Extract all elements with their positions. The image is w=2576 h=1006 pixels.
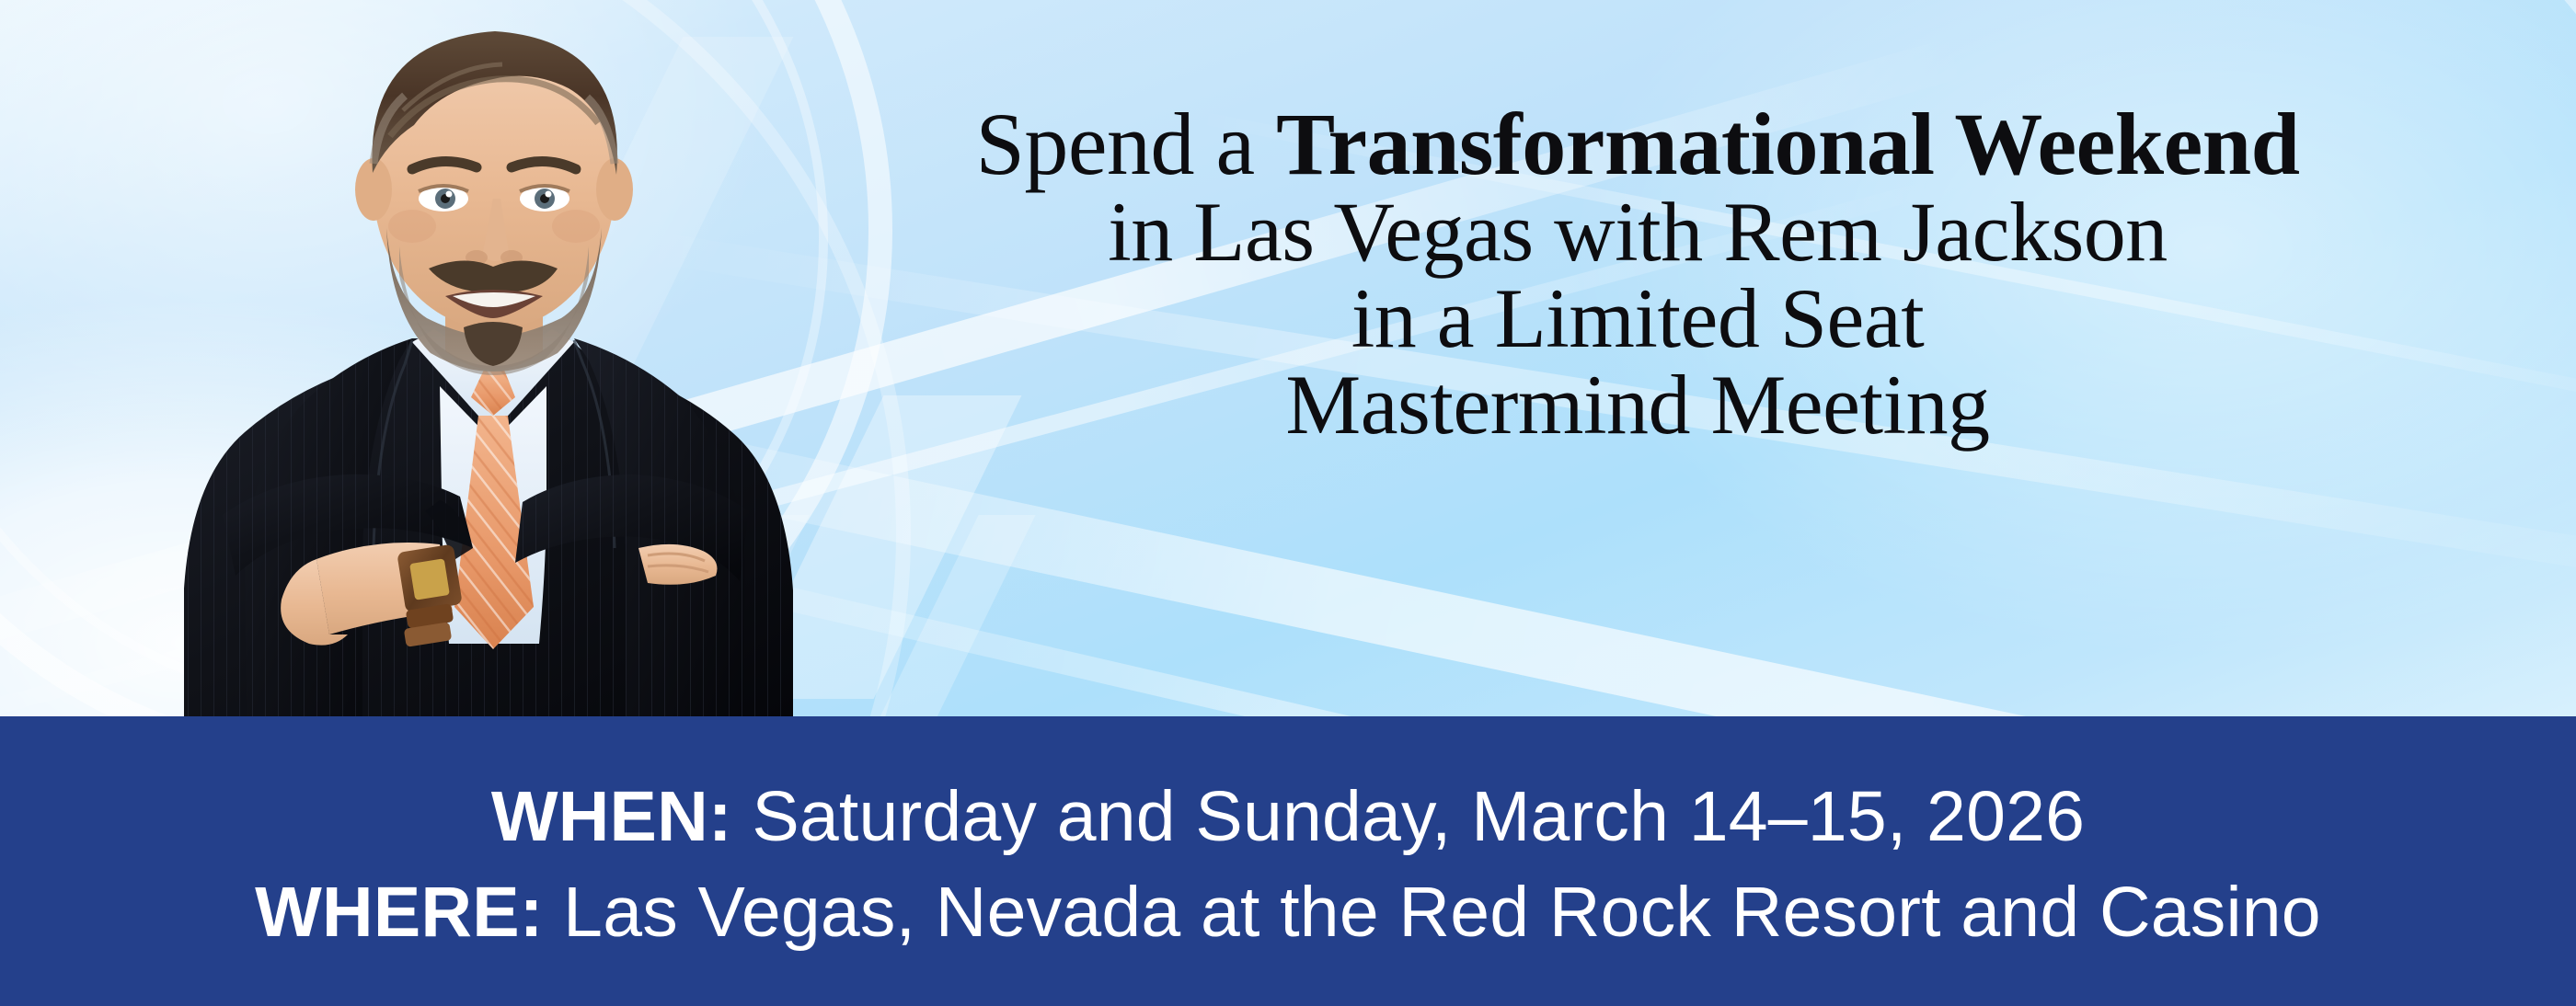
headline-line-3: in a Limited Seat xyxy=(699,276,2576,362)
event-promo-banner: Spend a Transformational Weekend in Las … xyxy=(0,0,2576,1006)
when-label: WHEN: xyxy=(491,777,732,856)
event-details-bar: WHEN: Saturday and Sunday, March 14–15, … xyxy=(0,716,2576,1006)
event-when-line: WHEN: Saturday and Sunday, March 14–15, … xyxy=(491,770,2085,865)
headline-line-2: in Las Vegas with Rem Jackson xyxy=(699,189,2576,276)
headline-line-1-emphasis: Transformational Weekend xyxy=(1276,95,2299,193)
headline-line-1: Spend a Transformational Weekend xyxy=(699,99,2576,189)
headline-block: Spend a Transformational Weekend in Las … xyxy=(699,99,2576,448)
when-value: Saturday and Sunday, March 14–15, 2026 xyxy=(732,777,2085,856)
headline-line-4: Mastermind Meeting xyxy=(699,362,2576,449)
headline-line-1-prefix: Spend a xyxy=(975,95,1276,193)
event-where-line: WHERE: Las Vegas, Nevada at the Red Rock… xyxy=(255,865,2321,961)
where-label: WHERE: xyxy=(255,873,543,952)
where-value: Las Vegas, Nevada at the Red Rock Resort… xyxy=(544,873,2321,952)
